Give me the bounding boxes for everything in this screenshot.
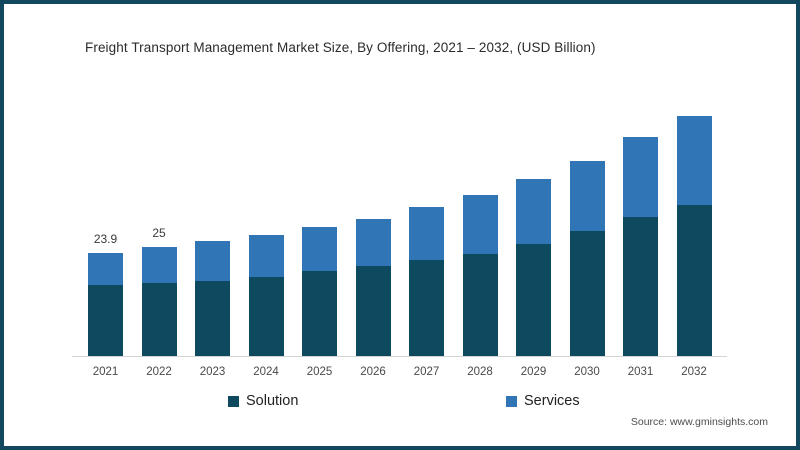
bar-value-label: 23.9	[94, 232, 117, 246]
bar-segment-services[interactable]	[249, 235, 284, 277]
bar-segment-solution[interactable]	[463, 254, 498, 356]
chart-title: Freight Transport Management Market Size…	[85, 40, 596, 55]
bar-stack	[516, 179, 551, 356]
legend-label-services: Services	[524, 393, 580, 409]
x-tick-label-2031: 2031	[628, 366, 654, 378]
bar-stack	[249, 235, 284, 356]
bar-segment-services[interactable]	[677, 116, 712, 205]
bar-segment-services[interactable]	[516, 179, 551, 244]
x-tick-label-2028: 2028	[467, 366, 493, 378]
bar-segment-solution[interactable]	[195, 281, 230, 356]
bar-group-2026[interactable]: 2026	[356, 219, 391, 356]
bar-stack	[356, 219, 391, 356]
bar-stack	[623, 137, 658, 356]
x-tick-label-2025: 2025	[307, 366, 333, 378]
bar-segment-solution[interactable]	[302, 271, 337, 356]
bar-segment-services[interactable]	[570, 161, 605, 231]
bar-segment-services[interactable]	[302, 227, 337, 271]
bar-segment-solution[interactable]	[356, 266, 391, 356]
bar-group-2031[interactable]: 2031	[623, 137, 658, 356]
x-tick-label-2022: 2022	[146, 366, 172, 378]
bar-group-2029[interactable]: 2029	[516, 179, 551, 356]
bar-segment-services[interactable]	[409, 207, 444, 260]
bar-segment-services[interactable]	[88, 253, 123, 285]
legend-swatch-solution-icon	[228, 396, 239, 407]
bar-stack	[463, 195, 498, 356]
bar-stack: 25	[142, 247, 177, 356]
bar-group-2025[interactable]: 2025	[302, 227, 337, 356]
bar-group-2021[interactable]: 23.92021	[88, 253, 123, 356]
legend-item-services[interactable]: Services	[506, 393, 580, 409]
legend-swatch-services-icon	[506, 396, 517, 407]
bar-group-2028[interactable]: 2028	[463, 195, 498, 356]
x-tick-label-2021: 2021	[93, 366, 119, 378]
x-tick-label-2026: 2026	[360, 366, 386, 378]
bar-group-2024[interactable]: 2024	[249, 235, 284, 356]
bar-group-2032[interactable]: 2032	[677, 116, 712, 356]
bar-segment-solution[interactable]	[142, 283, 177, 356]
bar-segment-services[interactable]	[623, 137, 658, 217]
bar-stack: 23.9	[88, 253, 123, 356]
bar-stack	[409, 207, 444, 356]
bar-stack	[677, 116, 712, 356]
x-axis-line	[72, 356, 727, 357]
bar-segment-services[interactable]	[463, 195, 498, 254]
bar-group-2030[interactable]: 2030	[570, 161, 605, 356]
legend-label-solution: Solution	[246, 393, 298, 409]
bar-segment-services[interactable]	[142, 247, 177, 283]
bar-stack	[195, 241, 230, 356]
x-tick-label-2032: 2032	[681, 366, 707, 378]
source-note: Source: www.gminsights.com	[631, 416, 768, 428]
plot-area: 23.9202125202220232024202520262027202820…	[72, 84, 727, 357]
bar-segment-services[interactable]	[356, 219, 391, 266]
bar-segment-solution[interactable]	[249, 277, 284, 356]
bar-segment-solution[interactable]	[409, 260, 444, 356]
x-tick-label-2027: 2027	[414, 366, 440, 378]
bar-value-label: 25	[152, 226, 165, 240]
bar-segment-solution[interactable]	[570, 231, 605, 356]
bar-segment-solution[interactable]	[677, 205, 712, 356]
bar-group-2022[interactable]: 252022	[142, 247, 177, 356]
bar-segment-solution[interactable]	[623, 217, 658, 356]
bar-group-2023[interactable]: 2023	[195, 241, 230, 356]
bar-stack	[302, 227, 337, 356]
chart-figure: Freight Transport Management Market Size…	[0, 0, 800, 450]
bar-segment-solution[interactable]	[516, 244, 551, 356]
bar-segment-services[interactable]	[195, 241, 230, 281]
chart-legend: Solution Services	[72, 393, 727, 417]
x-tick-label-2029: 2029	[521, 366, 547, 378]
x-tick-label-2024: 2024	[253, 366, 279, 378]
legend-item-solution[interactable]: Solution	[228, 393, 298, 409]
x-tick-label-2023: 2023	[200, 366, 226, 378]
x-tick-label-2030: 2030	[574, 366, 600, 378]
bar-group-2027[interactable]: 2027	[409, 207, 444, 356]
bar-stack	[570, 161, 605, 356]
bar-segment-solution[interactable]	[88, 285, 123, 356]
